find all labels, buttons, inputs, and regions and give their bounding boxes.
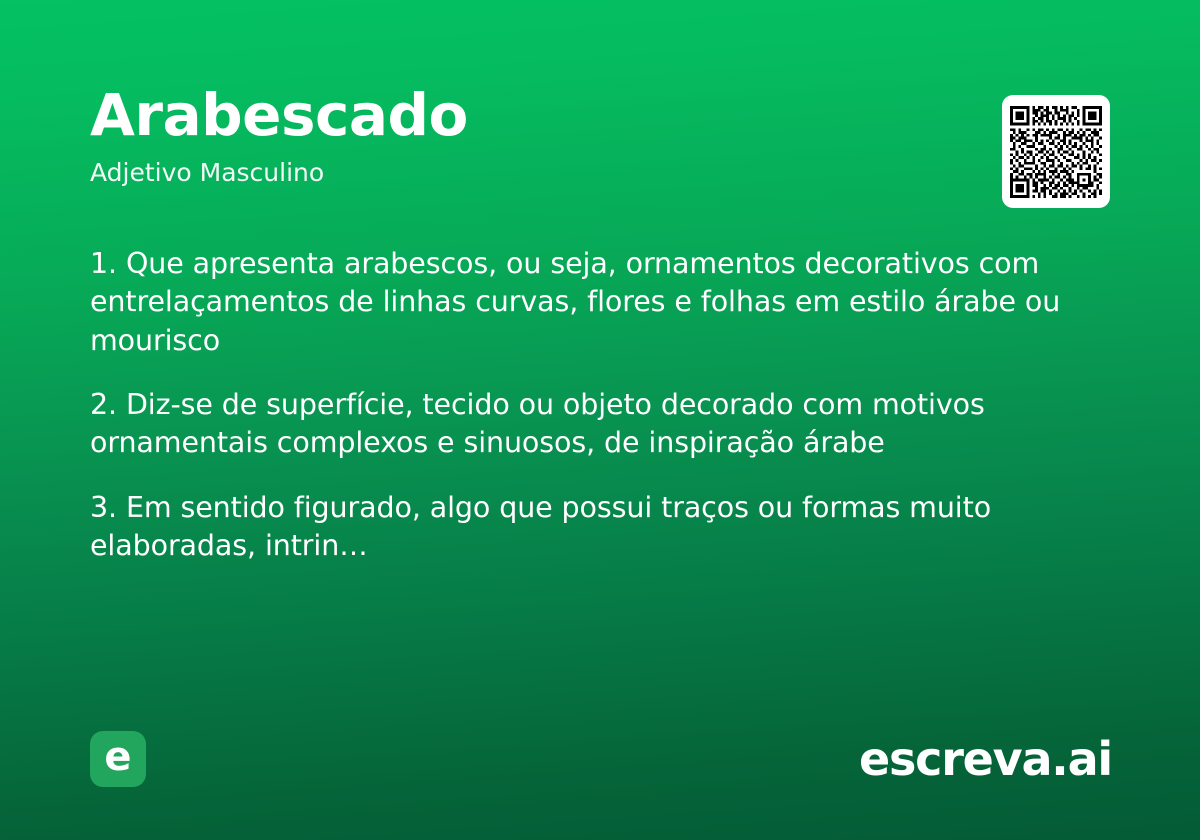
word-class-label: Adjetivo Masculino: [90, 160, 1110, 185]
definition-item: 3. Em sentido figurado, algo que possui …: [90, 489, 1090, 566]
definition-item: 2. Diz-se de superfície, tecido ou objet…: [90, 386, 1090, 463]
qr-code-container[interactable]: [1002, 95, 1110, 208]
page-title: Arabescado: [90, 86, 1110, 144]
brand-wordmark: escreva.ai: [859, 736, 1112, 782]
definition-item: 1. Que apresenta arabescos, ou seja, orn…: [90, 245, 1090, 360]
card-header: Arabescado Adjetivo Masculino: [90, 86, 1110, 185]
qr-code-icon: [1010, 106, 1102, 198]
card-footer: e escreva.ai: [90, 730, 1112, 788]
definitions-list: 1. Que apresenta arabescos, ou seja, orn…: [90, 245, 1090, 565]
dictionary-card: Arabescado Adjetivo Masculino: [0, 0, 1200, 840]
brand-logo[interactable]: e: [90, 731, 146, 787]
brand-logo-letter: e: [104, 737, 131, 777]
